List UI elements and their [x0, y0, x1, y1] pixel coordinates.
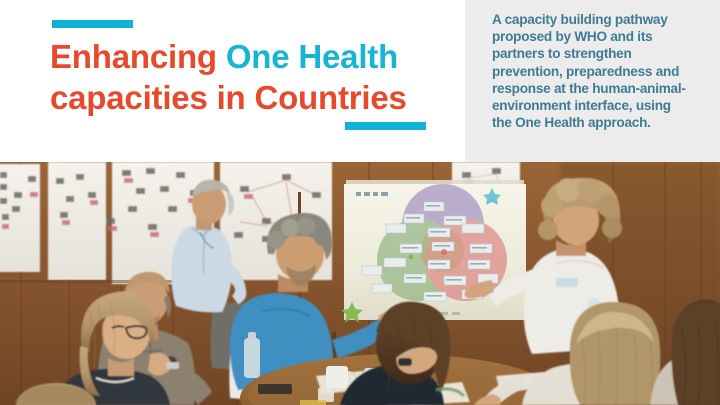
page-title-primary: Enhancing: [50, 38, 226, 75]
workshop-photo-image: [0, 162, 720, 405]
page-title-line2: capacities in Countries: [50, 79, 407, 116]
caption-text: A capacity building pathway proposed by …: [492, 11, 692, 131]
page-title-accent: One Health: [226, 38, 398, 75]
caption-panel: A capacity building pathway proposed by …: [465, 0, 720, 162]
title-area: Enhancing One Healthcapacities in Countr…: [0, 0, 465, 162]
infographic-page: Enhancing One Healthcapacities in Countr…: [0, 0, 720, 405]
page-title: Enhancing One Healthcapacities in Countr…: [50, 36, 450, 118]
header-band: Enhancing One Healthcapacities in Countr…: [0, 0, 720, 162]
accent-rule-bottom-icon: [345, 122, 426, 130]
workshop-photo: [0, 162, 720, 405]
accent-rule-top-icon: [52, 20, 133, 28]
